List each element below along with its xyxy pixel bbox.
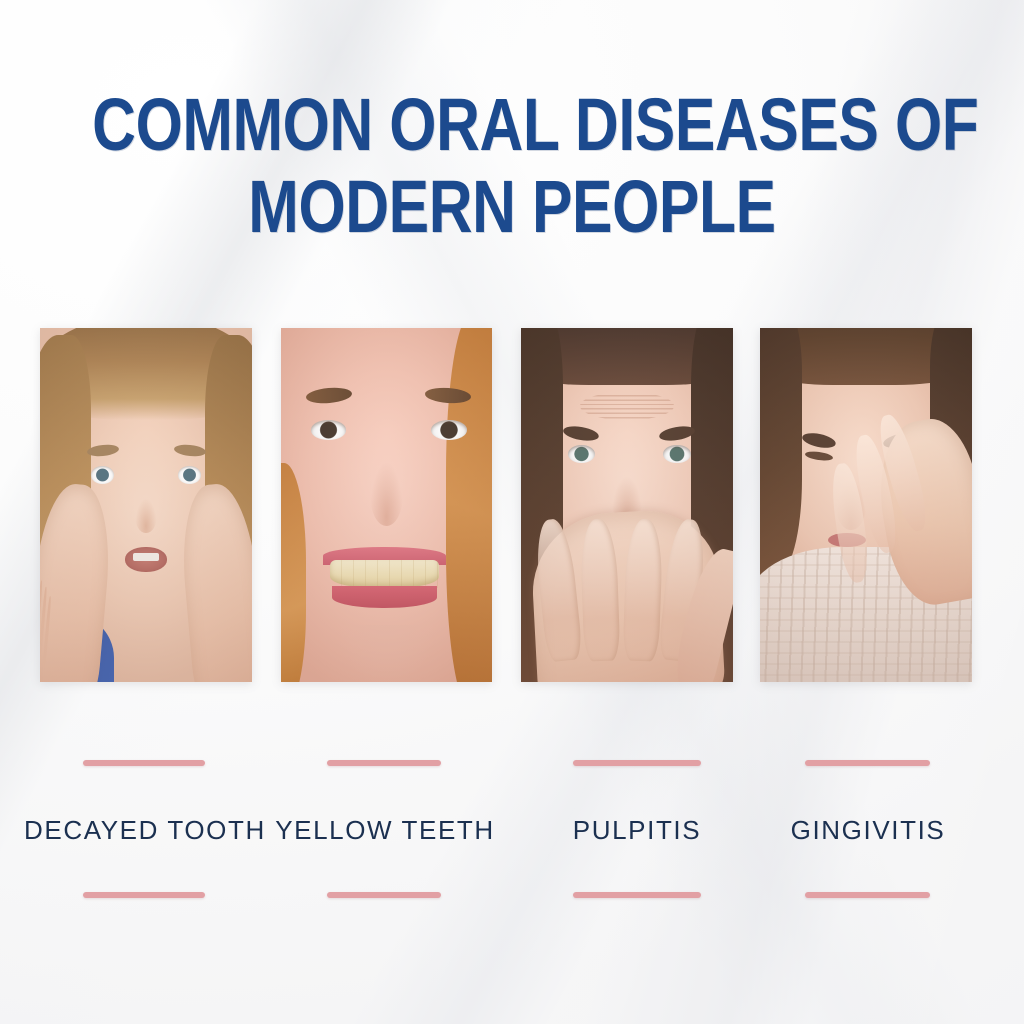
rule-top-pulpitis: [573, 760, 701, 766]
title-line-2: MODERN PEOPLE: [92, 166, 932, 248]
caption-label-decayed-tooth: DECAYED TOOTH: [24, 816, 264, 844]
caption-label-pulpitis: PULPITIS: [537, 816, 737, 844]
photo-gingivitis: [760, 328, 972, 682]
caption-column-decayed-tooth: DECAYED TOOTH: [83, 760, 205, 898]
title-line-1: COMMON ORAL DISEASES OF: [92, 84, 932, 166]
illustration-pulpitis: [521, 328, 733, 682]
rule-top-decayed-tooth: [83, 760, 205, 766]
caption-column-gingivitis: GINGIVITIS: [805, 760, 930, 898]
rule-bottom-gingivitis: [805, 892, 930, 898]
caption-column-yellow-teeth: YELLOW TEETH: [327, 760, 441, 898]
photo-pulpitis: [521, 328, 733, 682]
caption-column-pulpitis: PULPITIS: [573, 760, 701, 898]
rule-top-yellow-teeth: [327, 760, 441, 766]
rule-bottom-yellow-teeth: [327, 892, 441, 898]
illustration-decayed-tooth: [40, 328, 252, 682]
caption-label-yellow-teeth: YELLOW TEETH: [270, 816, 500, 844]
photo-yellow-teeth: [281, 328, 492, 682]
poster-root: COMMON ORAL DISEASES OF MODERN PEOPLE: [0, 0, 1024, 1024]
rule-bottom-pulpitis: [573, 892, 701, 898]
illustration-gingivitis: [760, 328, 972, 682]
photo-row: [0, 328, 1024, 684]
caption-label-gingivitis: GINGIVITIS: [763, 816, 973, 844]
rule-top-gingivitis: [805, 760, 930, 766]
illustration-yellow-teeth: [281, 328, 492, 682]
poster-title: COMMON ORAL DISEASES OF MODERN PEOPLE: [0, 84, 1024, 248]
rule-bottom-decayed-tooth: [83, 892, 205, 898]
photo-decayed-tooth: [40, 328, 252, 682]
